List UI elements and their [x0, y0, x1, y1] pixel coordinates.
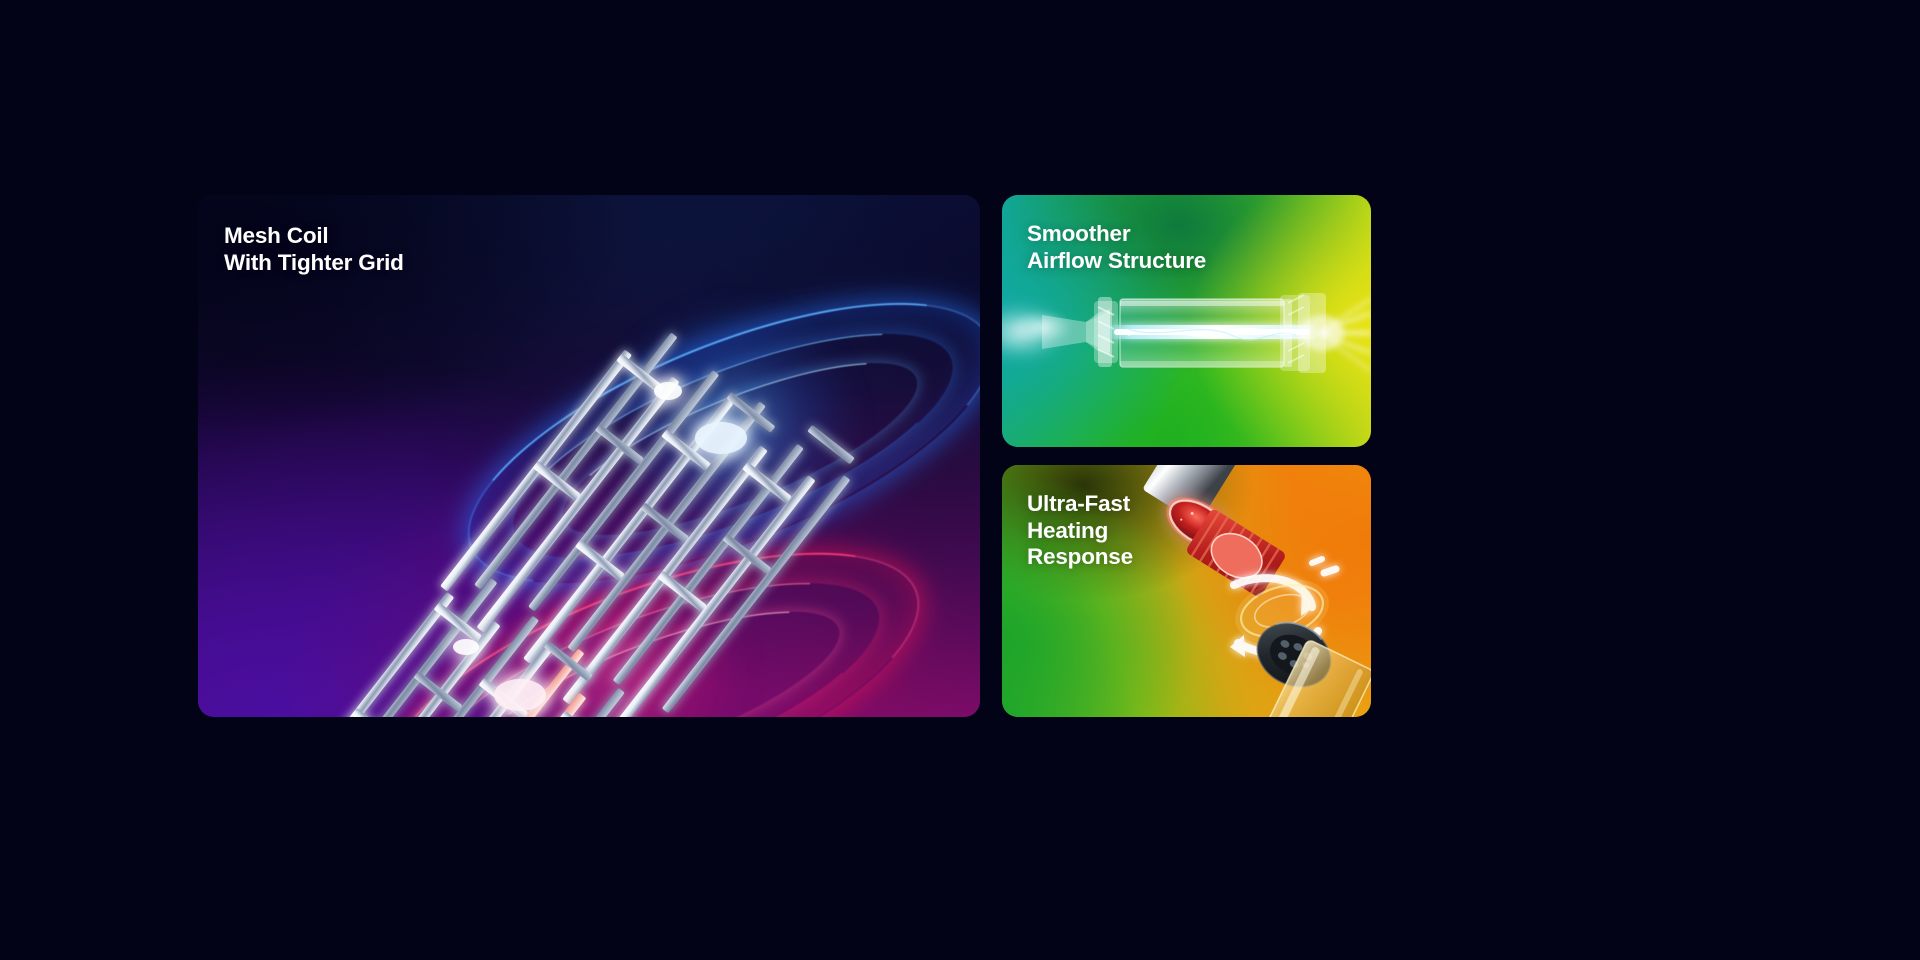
- card-airflow[interactable]: Smoother Airflow Structure: [1002, 195, 1371, 447]
- airflow-title: Smoother Airflow Structure: [1027, 221, 1206, 274]
- feature-panel: Mesh Coil With Tighter Grid: [0, 0, 1920, 960]
- heating-title: Ultra-Fast Heating Response: [1027, 491, 1133, 571]
- card-heating[interactable]: Ultra-Fast Heating Response: [1002, 465, 1371, 717]
- mesh-coil-title: Mesh Coil With Tighter Grid: [224, 223, 404, 276]
- feature-card-grid: Mesh Coil With Tighter Grid: [198, 195, 1371, 717]
- card-mesh-coil[interactable]: Mesh Coil With Tighter Grid: [198, 195, 980, 717]
